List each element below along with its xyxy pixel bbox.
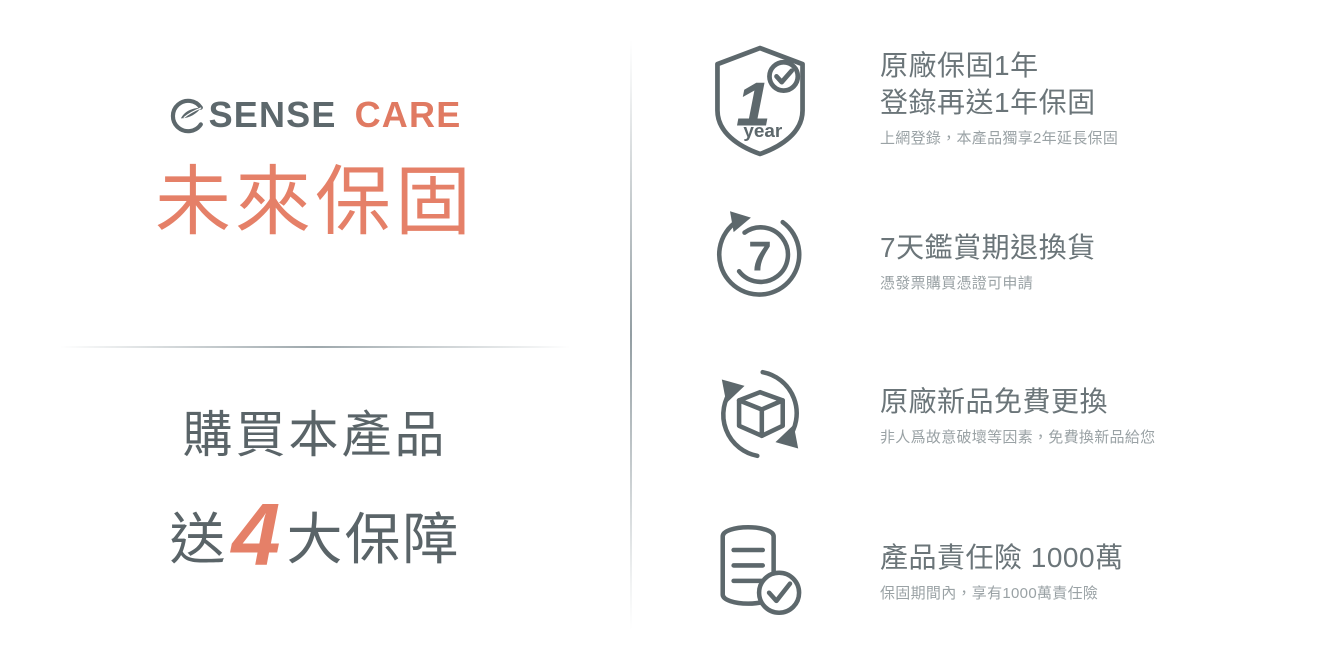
svg-text:7: 7 bbox=[748, 232, 771, 279]
promo-block: 購買本產品 送 4 大保障 bbox=[0, 408, 630, 573]
promo-number: 4 bbox=[228, 491, 287, 579]
document-check-insurance-icon bbox=[700, 518, 820, 638]
feature-title-line: 原廠新品免費更換 bbox=[880, 384, 1155, 421]
feature-subtitle: 憑發票購買憑證可申請 bbox=[880, 273, 1096, 294]
esense-care-banner: SENSE CARE 未來保固 購買本產品 送 4 大保障 1 year bbox=[0, 0, 1334, 667]
feature-subtitle: 上網登錄，本產品獨享2年延長保固 bbox=[880, 128, 1118, 149]
feature-row: 1 year 原廠保固1年 登錄再送1年保固 上網登錄，本產品獨享2年延長保固 bbox=[700, 40, 1334, 160]
promo-line-2: 送 4 大保障 bbox=[0, 485, 630, 573]
feature-text: 原廠新品免費更換 非人爲故意破壞等因素，免費換新品給您 bbox=[820, 362, 1155, 448]
vertical-divider bbox=[630, 40, 632, 630]
feature-row: 產品責任險 1000萬 保固期間內，享有1000萬責任險 bbox=[700, 518, 1334, 638]
shield-1-year-warranty-icon: 1 year bbox=[700, 40, 820, 160]
feature-title-line: 原廠保固1年 bbox=[880, 48, 1118, 85]
box-exchange-arrows-icon bbox=[700, 362, 820, 482]
brand-block: SENSE CARE 未來保固 bbox=[0, 96, 630, 243]
brand-headline: 未來保固 bbox=[0, 163, 630, 243]
esense-leaf-logo-icon bbox=[169, 97, 207, 135]
promo-prefix: 送 bbox=[170, 511, 228, 570]
features-panel: 1 year 原廠保固1年 登錄再送1年保固 上網登錄，本產品獨享2年延長保固 bbox=[700, 0, 1334, 667]
feature-text: 7天鑑賞期退換貨 憑發票購買憑證可申請 bbox=[820, 202, 1096, 294]
promo-line-1: 購買本產品 bbox=[0, 408, 630, 463]
svg-text:year: year bbox=[743, 121, 783, 142]
feature-title-line: 7天鑑賞期退換貨 bbox=[880, 230, 1096, 267]
brand-word-care: CARE bbox=[355, 97, 462, 133]
feature-subtitle: 保固期間內，享有1000萬責任險 bbox=[880, 583, 1124, 604]
brand-word-esense: SENSE bbox=[209, 97, 337, 133]
promo-suffix: 大保障 bbox=[286, 511, 460, 570]
brand-lockup: SENSE CARE bbox=[169, 96, 462, 134]
feature-text: 產品責任險 1000萬 保固期間內，享有1000萬責任險 bbox=[820, 518, 1124, 604]
feature-row: 7 7天鑑賞期退換貨 憑發票購買憑證可申請 bbox=[700, 202, 1334, 322]
return-7-days-arrow-icon: 7 bbox=[700, 202, 820, 322]
feature-row: 原廠新品免費更換 非人爲故意破壞等因素，免費換新品給您 bbox=[700, 362, 1334, 482]
left-panel: SENSE CARE 未來保固 購買本產品 送 4 大保障 bbox=[0, 0, 630, 667]
feature-text: 原廠保固1年 登錄再送1年保固 上網登錄，本產品獨享2年延長保固 bbox=[820, 40, 1118, 149]
horizontal-divider bbox=[60, 346, 570, 348]
feature-title-line: 產品責任險 1000萬 bbox=[880, 540, 1124, 577]
feature-title-line: 登錄再送1年保固 bbox=[880, 85, 1118, 122]
feature-subtitle: 非人爲故意破壞等因素，免費換新品給您 bbox=[880, 427, 1155, 448]
